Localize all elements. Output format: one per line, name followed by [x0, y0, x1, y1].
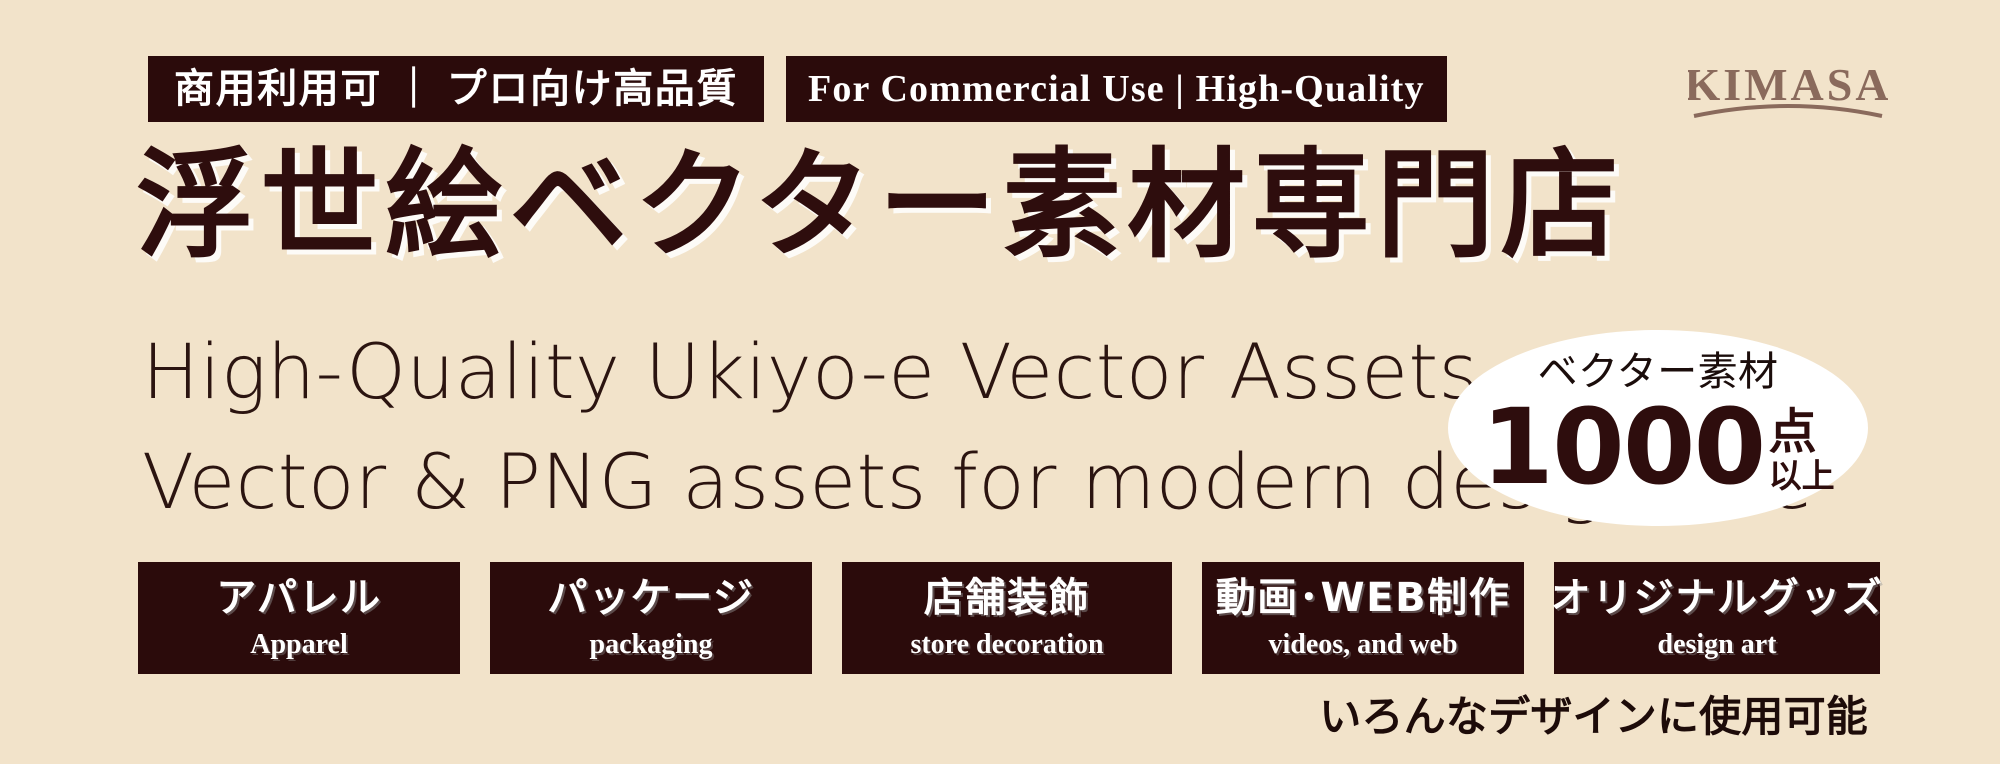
badge-row: 商用利用可 ｜ プロ向け高品質 For Commercial Use | Hig… [148, 56, 1447, 122]
promo-banner: 商用利用可 ｜ プロ向け高品質 For Commercial Use | Hig… [0, 0, 2000, 764]
category-row: アパレル Apparel パッケージ packaging 店舗装飾 store … [138, 562, 1880, 674]
badge-commercial-use-en: For Commercial Use | High-Quality [786, 56, 1447, 122]
category-label-jp: パッケージ [547, 578, 754, 618]
category-label-en: store decoration [910, 631, 1103, 659]
category-videos-web[interactable]: 動画･WEB制作 videos, and web [1202, 562, 1524, 674]
svg-text:KIMASA: KIMASA [1688, 59, 1888, 110]
category-design-art[interactable]: オリジナルグッズ design art [1554, 562, 1880, 674]
category-label-jp: オリジナルグッズ [1551, 578, 1884, 618]
category-label-en: packaging [590, 631, 713, 659]
category-store-decoration[interactable]: 店舗装飾 store decoration [842, 562, 1172, 674]
category-label-en: design art [1658, 631, 1777, 659]
asset-count-unit: 点 [1769, 408, 1817, 456]
badge-commercial-use-jp: 商用利用可 ｜ プロ向け高品質 [148, 56, 764, 122]
asset-count-number: 1000 [1481, 402, 1764, 494]
asset-count-value-group: 1000 点 以上 [1448, 402, 1868, 494]
asset-count-unit-stack: 点 以上 [1769, 408, 1835, 494]
subtitle-line-1: High-Quality Ukiyo-e Vector Assets [142, 334, 1479, 410]
asset-count-suffix: 以上 [1769, 459, 1835, 492]
category-label-jp: 店舗装飾 [924, 578, 1090, 618]
footer-tagline: いろんなデザインに使用可能 [1319, 696, 1868, 738]
category-label-jp: アパレル [216, 578, 382, 618]
category-label-en: videos, and web [1268, 631, 1457, 659]
category-packaging[interactable]: パッケージ packaging [490, 562, 812, 674]
brand-logo: KIMASA [1688, 56, 1888, 128]
category-label-jp: 動画･WEB制作 [1216, 578, 1511, 618]
category-apparel[interactable]: アパレル Apparel [138, 562, 460, 674]
category-label-en: Apparel [250, 631, 348, 659]
asset-count-badge: ベクター素材 1000 点 以上 [1448, 330, 1868, 526]
page-title: 浮世絵ベクター素材専門店 [136, 146, 1625, 264]
